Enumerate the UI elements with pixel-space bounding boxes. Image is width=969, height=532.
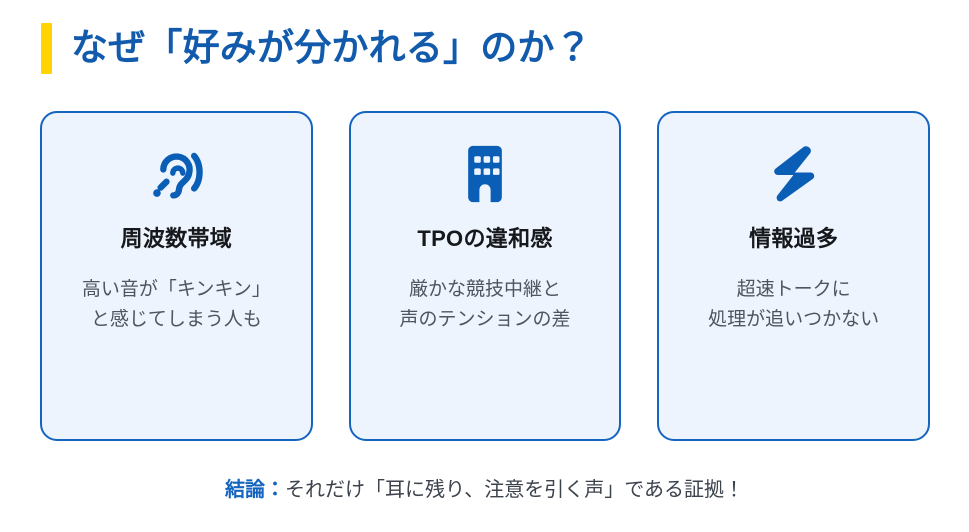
card-title: TPOの違和感 (417, 225, 552, 253)
building-icon (458, 141, 512, 207)
conclusion-line: 結論：それだけ「耳に残り、注意を引く声」である証拠！ (0, 475, 969, 505)
card-body: 厳かな競技中継と 声のテンションの差 (400, 275, 571, 337)
accent-bar (41, 23, 52, 74)
card-title: 情報過多 (749, 225, 838, 253)
conclusion-text: それだけ「耳に残り、注意を引く声」である証拠！ (285, 479, 744, 501)
card-body: 超速トークに 処理が追いつかない (708, 275, 879, 337)
card-frequency-band[interactable]: 周波数帯域 高い音が「キンキン」 と感じてしまう人も (40, 111, 313, 441)
card-information-overload[interactable]: 情報過多 超速トークに 処理が追いつかない (657, 111, 930, 441)
page-title: なぜ「好みが分かれる」のか？ (41, 20, 592, 76)
card-tpo-mismatch[interactable]: TPOの違和感 厳かな競技中継と 声のテンションの差 (349, 111, 622, 441)
lightning-bolt-icon (767, 141, 821, 207)
slide-root: なぜ「好みが分かれる」のか？ 周波数帯域 高い音が「キンキン」 と感じて (0, 0, 969, 532)
card-row: 周波数帯域 高い音が「キンキン」 と感じてしまう人も TPOの違和感 厳かな競技… (40, 111, 930, 441)
page-title-text: なぜ「好みが分かれる」のか？ (71, 28, 592, 68)
card-body: 高い音が「キンキン」 と感じてしまう人も (82, 275, 271, 337)
card-title: 周波数帯域 (121, 225, 233, 253)
ear-listen-icon (147, 141, 205, 207)
conclusion-label: 結論： (225, 479, 285, 501)
